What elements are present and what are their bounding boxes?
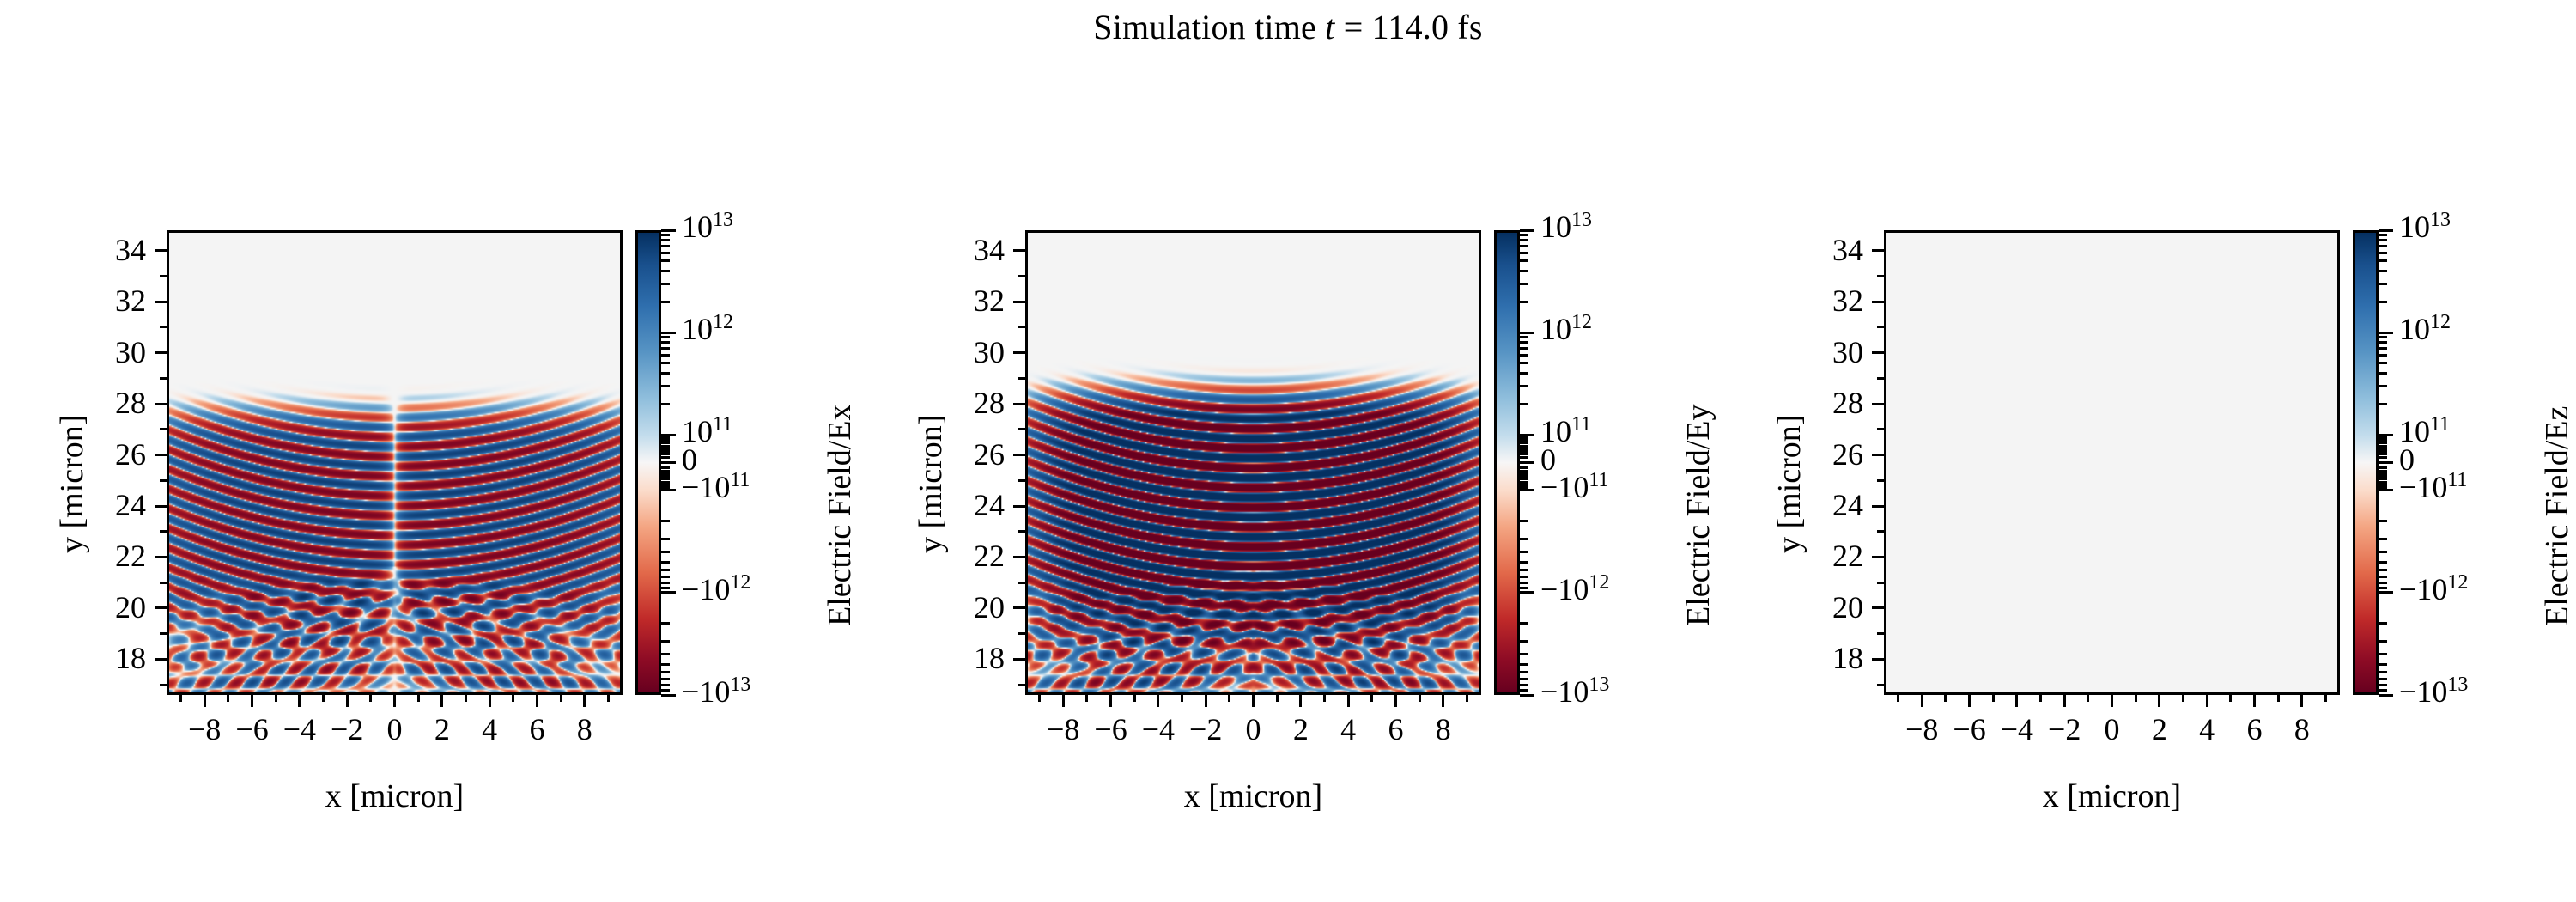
colorbar-tick-minor <box>1520 622 1528 625</box>
colorbar-tick-minor <box>2379 448 2387 450</box>
colorbar-tick-minor <box>1520 283 1528 285</box>
colorbar-tick-minor <box>2379 689 2387 692</box>
x-axis-label: x [micron] <box>1884 777 2340 815</box>
colorbar-tick-minor <box>2379 347 2387 350</box>
colorbar-tick-minor <box>2379 385 2387 387</box>
colorbar-tick-minor <box>2379 678 2387 680</box>
colorbar-tick-major <box>2379 229 2393 232</box>
xtick-minor <box>1419 695 1421 702</box>
colorbar-tick-minor <box>661 245 670 247</box>
ytick-major <box>155 556 167 558</box>
ytick-major <box>155 606 167 609</box>
ytick-minor <box>1018 684 1025 686</box>
title-variable: t <box>1325 8 1334 46</box>
colorbar-title-ey: Electric Field/Ey <box>1680 404 1717 626</box>
colorbar-tick-minor <box>2379 245 2387 247</box>
ytick-major <box>1872 301 1884 303</box>
ytick-minor <box>1877 377 1884 380</box>
colorbar-tick-minor <box>1520 587 1528 589</box>
colorbar-tick-minor <box>2379 354 2387 357</box>
colorbar-tick-major <box>661 489 676 491</box>
ytick-label: 34 <box>1781 235 1863 265</box>
xtick-label: 8 <box>546 714 623 745</box>
colorbar-tick-minor <box>661 439 670 442</box>
colorbar-tick-minor <box>661 362 670 364</box>
xtick-major <box>1157 695 1159 707</box>
xtick-minor <box>179 695 182 702</box>
ytick-major <box>1872 556 1884 558</box>
colorbar-tick-minor <box>2379 622 2387 625</box>
colorbar-tick-minor <box>661 385 670 387</box>
ytick-label: 18 <box>1781 643 1863 673</box>
ytick-minor <box>1877 582 1884 584</box>
ytick-minor <box>160 582 167 584</box>
ytick-major <box>155 301 167 303</box>
ytick-major <box>1872 249 1884 252</box>
ytick-major <box>1013 301 1025 303</box>
colorbar-gradient <box>638 233 659 692</box>
colorbar-tick-major <box>1520 461 1534 464</box>
colorbar-tick-minor <box>2379 372 2387 375</box>
ytick-label: 18 <box>64 643 146 673</box>
xtick-minor <box>227 695 229 702</box>
colorbar-tick-label: 1012 <box>2399 314 2451 344</box>
colorbar-tick-label: 1013 <box>1540 211 1592 242</box>
colorbar-tick-major <box>1520 591 1534 594</box>
colorbar-tick-label: −1011 <box>1540 472 1608 503</box>
ytick-major <box>155 249 167 252</box>
ytick-label: 30 <box>64 337 146 368</box>
ytick-major <box>155 454 167 456</box>
ytick-minor <box>160 275 167 277</box>
ytick-minor <box>1018 275 1025 277</box>
colorbar-tick-minor <box>661 640 670 643</box>
x-axis-label: x [micron] <box>1025 777 1481 815</box>
colorbar-tick-minor <box>1520 347 1528 350</box>
colorbar-tick-minor <box>1520 689 1528 692</box>
xtick-minor <box>1276 695 1279 702</box>
xtick-minor <box>2135 695 2137 702</box>
xtick-major <box>2111 695 2113 707</box>
colorbar-tick-minor <box>661 347 670 350</box>
ytick-label: 32 <box>1781 285 1863 316</box>
colorbar-tick-minor <box>2379 561 2387 564</box>
ytick-label: 18 <box>922 643 1005 673</box>
colorbar-tick-minor <box>661 576 670 578</box>
colorbar-tick-minor <box>1520 336 1528 338</box>
colorbar-tick-major <box>661 229 676 232</box>
ytick-label: 34 <box>64 235 146 265</box>
colorbar-tick-minor <box>661 587 670 589</box>
colorbar-tick-minor <box>2379 442 2387 444</box>
ytick-minor <box>1877 479 1884 482</box>
xtick-major <box>1347 695 1350 707</box>
colorbar-ey[interactable] <box>1494 230 1520 695</box>
colorbar-tick-minor <box>661 403 670 405</box>
xtick-minor <box>275 695 277 702</box>
colorbar-tick-minor <box>2379 456 2387 459</box>
colorbar-tick-label: 1013 <box>682 211 733 242</box>
colorbar-tick-minor <box>2379 362 2387 364</box>
heatmap-axes-ey[interactable] <box>1025 230 1481 695</box>
colorbar-tick-major <box>1520 229 1534 232</box>
ytick-major <box>1872 606 1884 609</box>
colorbar-tick-minor <box>661 569 670 571</box>
colorbar-tick-minor <box>1520 520 1528 522</box>
colorbar-tick-minor <box>1520 245 1528 247</box>
colorbar-tick-minor <box>1520 561 1528 564</box>
xtick-major <box>2300 695 2303 707</box>
y-axis-label: y [micron] <box>53 414 91 552</box>
colorbar-tick-label: −1012 <box>1540 574 1609 605</box>
xtick-minor <box>2229 695 2232 702</box>
ytick-major <box>1013 249 1025 252</box>
colorbar-title-ez: Electric Field/Ez <box>2538 405 2576 625</box>
xtick-minor <box>1466 695 1468 702</box>
colorbar-tick-label: −1013 <box>2399 676 2468 707</box>
colorbar-tick-minor <box>661 336 670 338</box>
colorbar-tick-minor <box>661 551 670 553</box>
colorbar-tick-minor <box>661 671 670 673</box>
xtick-major <box>440 695 443 707</box>
ytick-major <box>155 658 167 661</box>
colorbar-tick-major <box>661 332 676 334</box>
ytick-minor <box>1018 479 1025 482</box>
y-axis-label: y [micron] <box>1771 414 1808 552</box>
xtick-label: 8 <box>2263 714 2341 745</box>
colorbar-tick-minor <box>1520 453 1528 455</box>
ytick-minor <box>1877 428 1884 430</box>
x-axis-label: x [micron] <box>167 777 623 815</box>
colorbar-tick-minor <box>2379 551 2387 553</box>
colorbar-tick-label: 1012 <box>682 314 733 344</box>
ytick-minor <box>1877 530 1884 533</box>
colorbar-tick-minor <box>2379 450 2387 453</box>
colorbar-tick-minor <box>1520 551 1528 553</box>
colorbar-tick-minor <box>2379 640 2387 643</box>
xtick-minor <box>2087 695 2089 702</box>
colorbar-tick-minor <box>2379 341 2387 344</box>
heatmap-axes-ex[interactable] <box>167 230 623 695</box>
colorbar-tick-minor <box>1520 301 1528 303</box>
ytick-major <box>1013 606 1025 609</box>
colorbar-tick-minor <box>661 520 670 522</box>
ytick-major <box>1013 454 1025 456</box>
ytick-major <box>1013 658 1025 661</box>
colorbar-tick-minor <box>1520 354 1528 357</box>
title-prefix: Simulation time <box>1093 8 1325 46</box>
colorbar-tick-minor <box>1520 239 1528 241</box>
colorbar-tick-minor <box>661 689 670 692</box>
ytick-minor <box>1877 326 1884 328</box>
colorbar-tick-minor <box>1520 403 1528 405</box>
colorbar-tick-minor <box>661 561 670 564</box>
colorbar-tick-label: −1011 <box>682 472 750 503</box>
colorbar-tick-major <box>661 461 676 464</box>
xtick-major <box>2015 695 2018 707</box>
colorbar-tick-minor <box>661 486 670 489</box>
colorbar-tick-minor <box>661 684 670 686</box>
colorbar-tick-minor <box>2379 436 2387 439</box>
field-image-ex <box>169 233 620 692</box>
xtick-minor <box>560 695 562 702</box>
colorbar-tick-minor <box>1520 653 1528 655</box>
colorbar-gradient <box>1497 233 1517 692</box>
colorbar-tick-minor <box>661 453 670 455</box>
colorbar-tick-minor <box>1520 678 1528 680</box>
ytick-minor <box>1018 582 1025 584</box>
xtick-minor <box>1897 695 1899 702</box>
colorbar-tick-minor <box>1520 234 1528 236</box>
ytick-label: 20 <box>922 592 1005 623</box>
colorbar-tick-minor <box>1520 341 1528 344</box>
colorbar-tick-minor <box>2379 283 2387 285</box>
xtick-minor <box>1992 695 1995 702</box>
ytick-major <box>155 505 167 508</box>
colorbar-tick-label: 1013 <box>2399 211 2451 242</box>
colorbar-tick-minor <box>1520 445 1528 448</box>
ytick-minor <box>1018 428 1025 430</box>
colorbar-tick-minor <box>1520 671 1528 673</box>
xtick-major <box>2206 695 2208 707</box>
colorbar-tick-minor <box>2379 569 2387 571</box>
colorbar-tick-minor <box>661 448 670 450</box>
ytick-label: 32 <box>922 285 1005 316</box>
xtick-minor <box>1133 695 1136 702</box>
figure-canvas: Simulation time t = 114.0 fs 34323028262… <box>0 0 2576 902</box>
ytick-major <box>1013 351 1025 354</box>
colorbar-tick-minor <box>661 538 670 540</box>
title-unit: fs <box>1449 8 1483 46</box>
xtick-major <box>298 695 301 707</box>
colorbar-tick-minor <box>1520 456 1528 459</box>
colorbar-tick-minor <box>661 252 670 254</box>
colorbar-tick-minor <box>1520 448 1528 450</box>
colorbar-tick-minor <box>661 283 670 285</box>
colorbar-tick-minor <box>2379 301 2387 303</box>
field-image-ez <box>1886 233 2337 692</box>
colorbar-tick-minor <box>2379 239 2387 241</box>
ytick-label: 30 <box>922 337 1005 368</box>
colorbar-tick-major <box>1520 694 1534 697</box>
colorbar-tick-label: −1013 <box>1540 676 1609 707</box>
colorbar-tick-minor <box>661 663 670 666</box>
colorbar-tick-label: −1012 <box>682 574 750 605</box>
colorbar-tick-minor <box>2379 486 2387 489</box>
ytick-label: 32 <box>64 285 146 316</box>
xtick-major <box>1921 695 1923 707</box>
colorbar-tick-label: −1013 <box>682 676 750 707</box>
xtick-major <box>536 695 538 707</box>
colorbar-tick-minor <box>2379 671 2387 673</box>
ytick-minor <box>160 428 167 430</box>
xtick-minor <box>322 695 325 702</box>
heatmap-axes-ez[interactable] <box>1884 230 2340 695</box>
colorbar-tick-major <box>661 591 676 594</box>
colorbar-tick-minor <box>661 442 670 444</box>
colorbar-tick-minor <box>661 456 670 459</box>
ytick-label: 20 <box>64 592 146 623</box>
xtick-major <box>583 695 586 707</box>
colorbar-tick-minor <box>2379 270 2387 272</box>
title-equals: = <box>1335 8 1372 46</box>
ytick-minor <box>1877 684 1884 686</box>
colorbar-tick-minor <box>2379 234 2387 236</box>
colorbar-tick-minor <box>2379 576 2387 578</box>
ytick-major <box>1872 505 1884 508</box>
colorbar-tick-label: −1012 <box>2399 574 2468 605</box>
xtick-major <box>489 695 491 707</box>
colorbar-title-ex: Electric Field/Ex <box>821 404 859 626</box>
xtick-major <box>2253 695 2256 707</box>
ytick-minor <box>1018 632 1025 635</box>
colorbar-tick-minor <box>661 234 670 236</box>
colorbar-tick-label: −1011 <box>2399 472 2467 503</box>
xtick-minor <box>607 695 610 702</box>
colorbar-tick-minor <box>2379 403 2387 405</box>
colorbar-tick-minor <box>661 372 670 375</box>
xtick-major <box>1299 695 1302 707</box>
colorbar-tick-minor <box>2379 538 2387 540</box>
xtick-major <box>1205 695 1207 707</box>
xtick-minor <box>2039 695 2042 702</box>
xtick-minor <box>1370 695 1373 702</box>
xtick-major <box>1062 695 1065 707</box>
colorbar-tick-label: 1012 <box>1540 314 1592 344</box>
ytick-label: 30 <box>1781 337 1863 368</box>
xtick-minor <box>1323 695 1326 702</box>
xtick-minor <box>369 695 372 702</box>
ytick-minor <box>1877 275 1884 277</box>
xtick-minor <box>1181 695 1183 702</box>
xtick-major <box>1442 695 1444 707</box>
colorbar-tick-minor <box>661 354 670 357</box>
colorbar-gradient <box>2355 233 2376 692</box>
colorbar-tick-minor <box>661 450 670 453</box>
xtick-major <box>1109 695 1112 707</box>
xtick-minor <box>1944 695 1947 702</box>
ytick-minor <box>160 377 167 380</box>
colorbar-ez[interactable] <box>2353 230 2379 695</box>
colorbar-tick-minor <box>1520 442 1528 444</box>
colorbar-tick-minor <box>661 653 670 655</box>
colorbar-tick-minor <box>1520 486 1528 489</box>
xtick-major <box>204 695 206 707</box>
colorbar-tick-minor <box>661 622 670 625</box>
ytick-major <box>155 351 167 354</box>
xtick-minor <box>512 695 514 702</box>
ytick-major <box>1013 556 1025 558</box>
xtick-major <box>2158 695 2160 707</box>
colorbar-tick-minor <box>1520 663 1528 666</box>
colorbar-tick-minor <box>1520 640 1528 643</box>
ytick-minor <box>160 684 167 686</box>
ytick-minor <box>160 632 167 635</box>
colorbar-tick-minor <box>1520 684 1528 686</box>
ytick-major <box>1872 454 1884 456</box>
colorbar-tick-minor <box>2379 439 2387 442</box>
xtick-minor <box>1228 695 1230 702</box>
colorbar-tick-minor <box>2379 684 2387 686</box>
figure-title: Simulation time t = 114.0 fs <box>0 7 2576 47</box>
colorbar-tick-minor <box>661 436 670 439</box>
colorbar-tick-minor <box>2379 259 2387 262</box>
ytick-minor <box>1018 326 1025 328</box>
ytick-minor <box>1018 530 1025 533</box>
ytick-minor <box>160 326 167 328</box>
xtick-minor <box>465 695 467 702</box>
colorbar-tick-minor <box>661 270 670 272</box>
ytick-label: 20 <box>1781 592 1863 623</box>
colorbar-tick-major <box>2379 489 2393 491</box>
colorbar-tick-major <box>1520 489 1534 491</box>
xtick-major <box>1252 695 1255 707</box>
colorbar-tick-minor <box>661 259 670 262</box>
title-value: 114.0 <box>1372 8 1449 46</box>
colorbar-tick-major <box>1520 332 1534 334</box>
xtick-major <box>1394 695 1397 707</box>
colorbar-tick-minor <box>1520 582 1528 584</box>
colorbar-tick-minor <box>2379 582 2387 584</box>
colorbar-tick-minor <box>661 239 670 241</box>
xtick-label: 8 <box>1405 714 1482 745</box>
ytick-minor <box>160 530 167 533</box>
colorbar-tick-minor <box>2379 252 2387 254</box>
ytick-major <box>1013 403 1025 405</box>
ytick-major <box>1872 403 1884 405</box>
ytick-minor <box>1877 632 1884 635</box>
colorbar-tick-minor <box>1520 259 1528 262</box>
ytick-major <box>155 403 167 405</box>
colorbar-tick-minor <box>1520 569 1528 571</box>
y-axis-label: y [micron] <box>912 414 950 552</box>
colorbar-tick-minor <box>1520 362 1528 364</box>
xtick-major <box>251 695 253 707</box>
colorbar-tick-major <box>2379 591 2393 594</box>
colorbar-tick-minor <box>1520 576 1528 578</box>
ytick-label: 34 <box>922 235 1005 265</box>
colorbar-tick-minor <box>1520 270 1528 272</box>
colorbar-tick-minor <box>2379 663 2387 666</box>
colorbar-tick-minor <box>661 678 670 680</box>
colorbar-tick-minor <box>1520 439 1528 442</box>
colorbar-tick-minor <box>1520 450 1528 453</box>
colorbar-tick-minor <box>2379 520 2387 522</box>
colorbar-tick-minor <box>1520 385 1528 387</box>
colorbar-ex[interactable] <box>635 230 661 695</box>
colorbar-tick-minor <box>661 301 670 303</box>
colorbar-tick-minor <box>1520 538 1528 540</box>
colorbar-tick-minor <box>2379 336 2387 338</box>
colorbar-tick-minor <box>2379 587 2387 589</box>
ytick-minor <box>1018 377 1025 380</box>
xtick-minor <box>2324 695 2327 702</box>
colorbar-tick-minor <box>2379 653 2387 655</box>
xtick-minor <box>1038 695 1041 702</box>
colorbar-tick-minor <box>661 582 670 584</box>
xtick-minor <box>2277 695 2280 702</box>
colorbar-tick-minor <box>1520 252 1528 254</box>
xtick-minor <box>417 695 420 702</box>
ytick-major <box>1872 658 1884 661</box>
xtick-minor <box>1085 695 1088 702</box>
xtick-major <box>1968 695 1971 707</box>
colorbar-tick-minor <box>2379 445 2387 448</box>
ytick-major <box>1013 505 1025 508</box>
colorbar-tick-minor <box>2379 453 2387 455</box>
colorbar-tick-minor <box>661 341 670 344</box>
colorbar-tick-major <box>661 694 676 697</box>
